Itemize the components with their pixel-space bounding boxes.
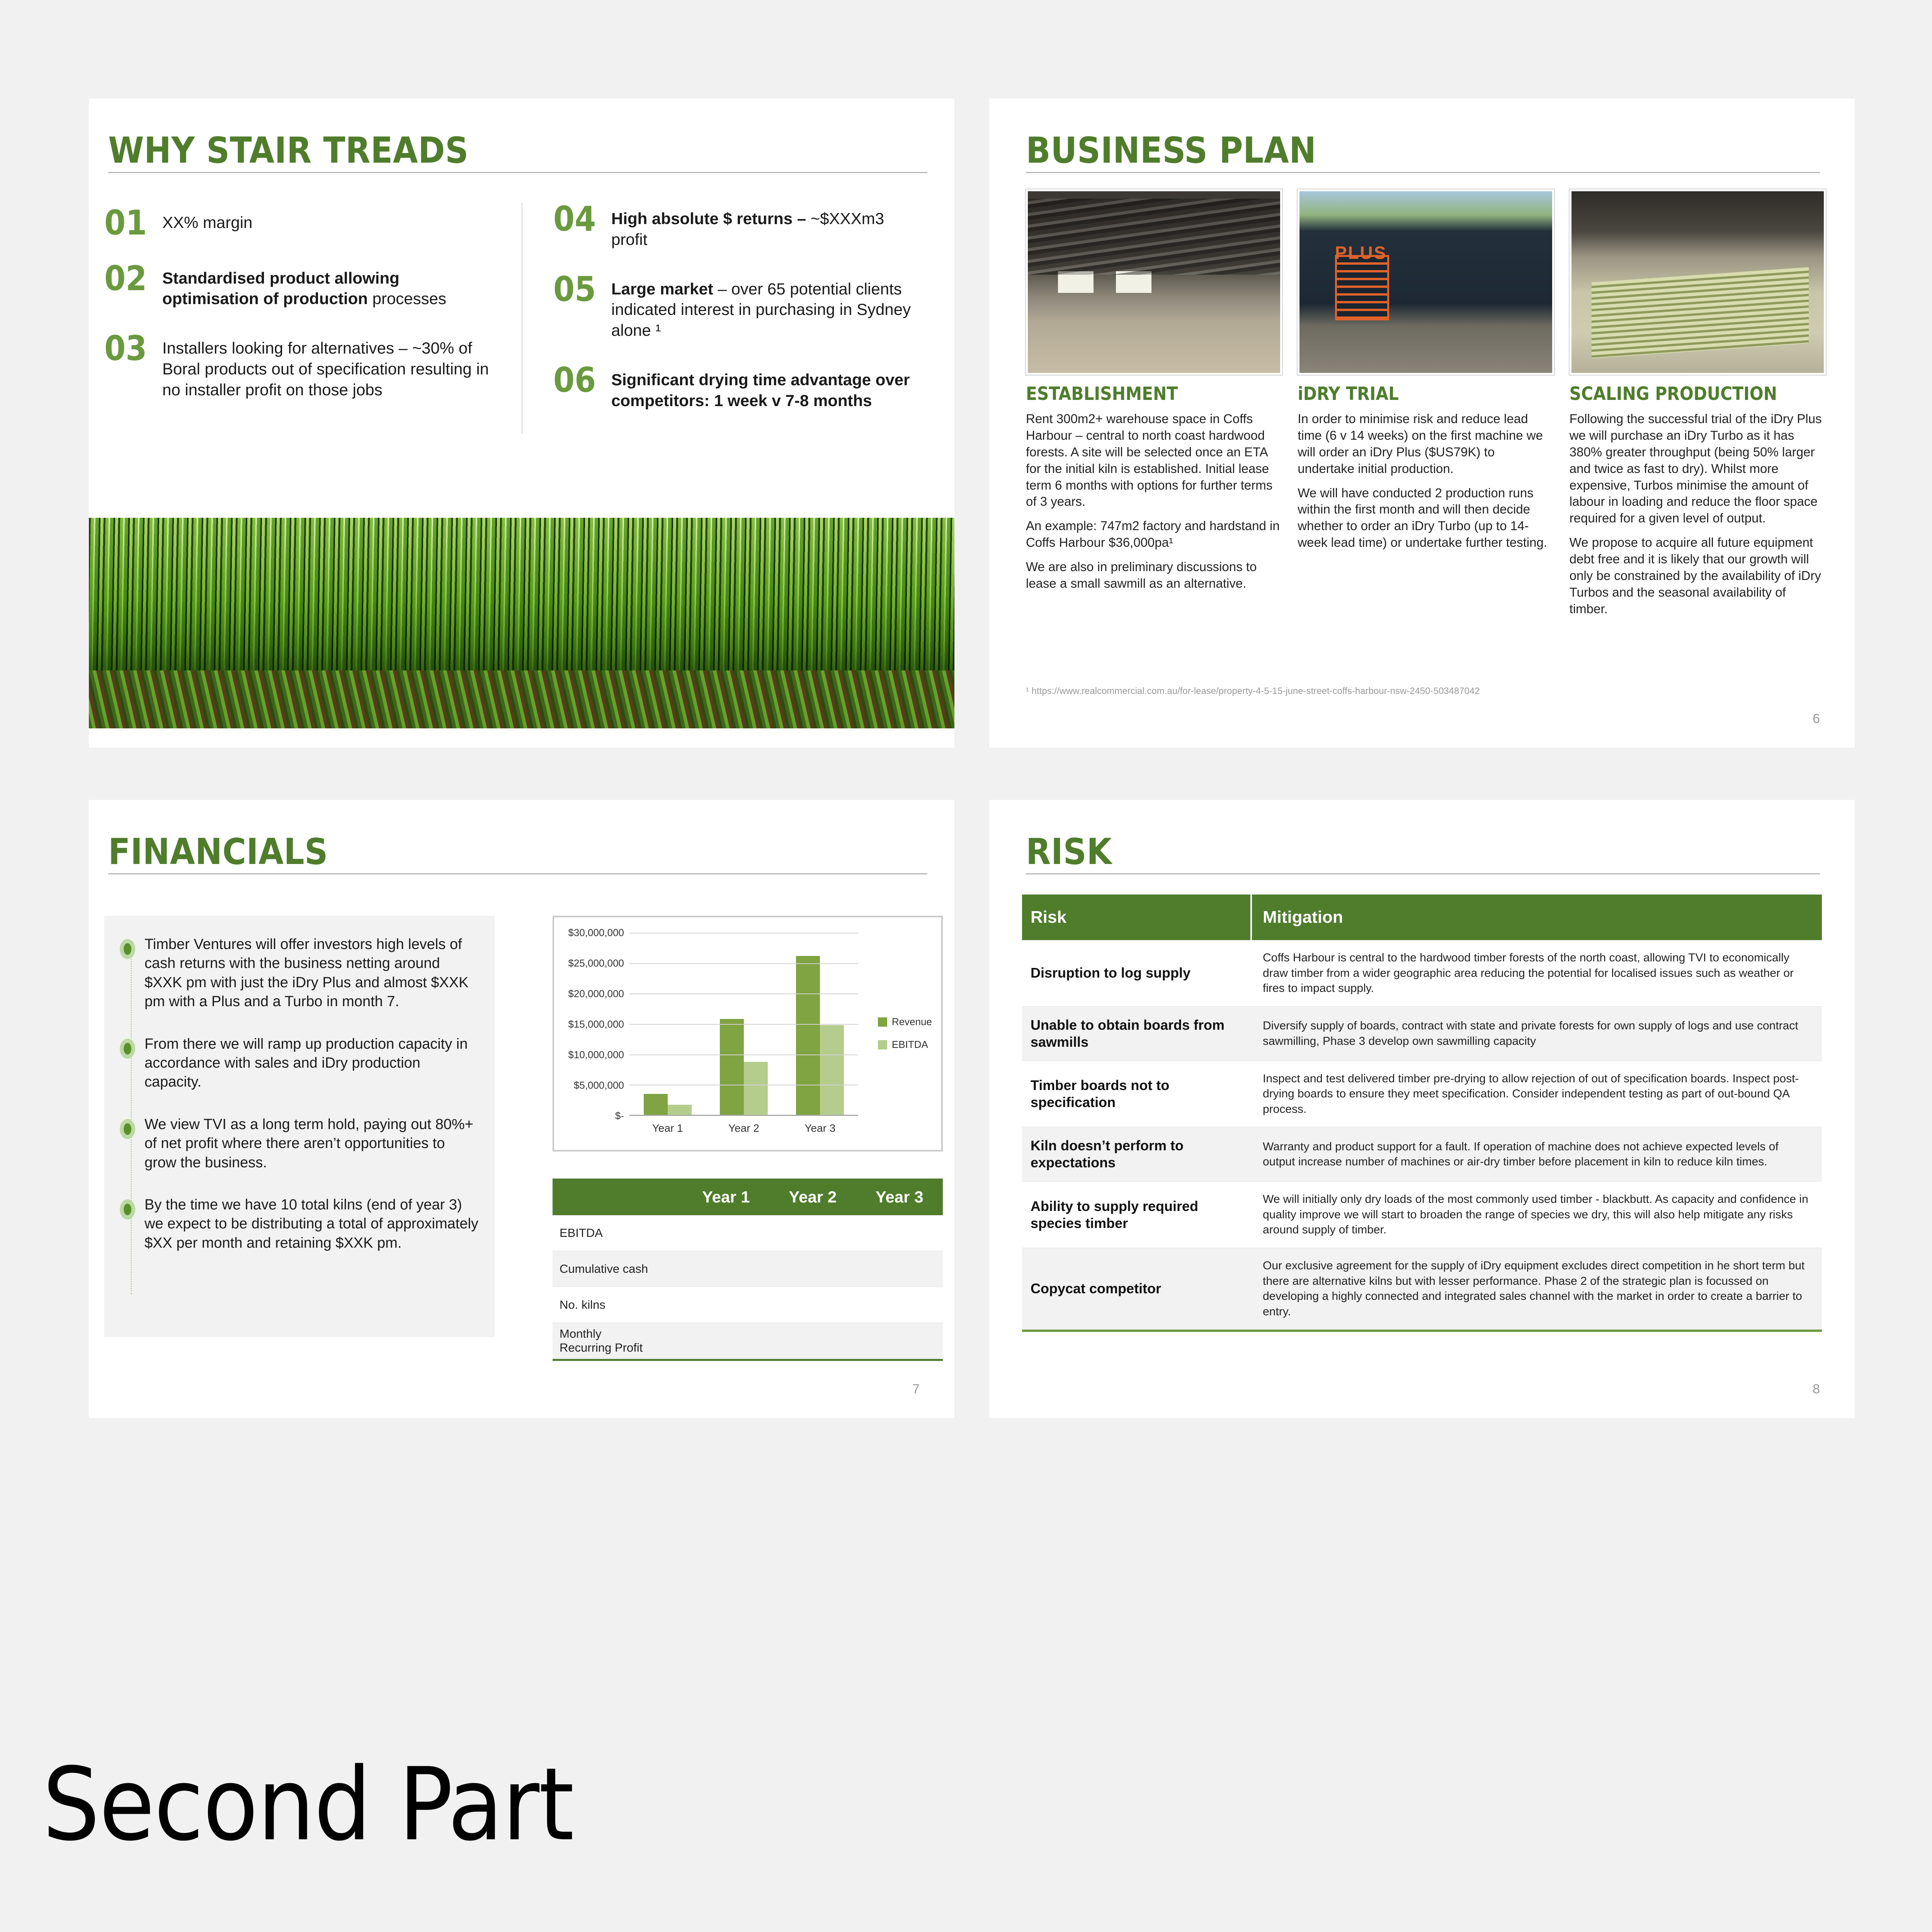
table-row: Kiln doesn’t perform to expectations War…: [1022, 1127, 1822, 1182]
item-text-body: processes: [368, 289, 446, 308]
chart-gridline: $15,000,000: [629, 1024, 858, 1025]
item-text: Installers looking for alternatives – ~3…: [162, 332, 498, 400]
bullet-text: Timber Ventures will offer investors hig…: [145, 935, 479, 1012]
chart-legend-item: Revenue: [878, 1016, 932, 1028]
table-row: Copycat competitor Our exclusive agreeme…: [1022, 1248, 1822, 1330]
section-caption: Second Part: [43, 1747, 573, 1863]
column-heading: ESTABLISHMENT: [1026, 383, 1282, 405]
list-item: From there we will ramp up production ca…: [120, 1035, 479, 1092]
financials-table: Year 1 Year 2 Year 3 EBITDA Cumulative c…: [553, 1179, 943, 1361]
chart-bar: [744, 1062, 768, 1115]
table-header-cell-risk: Risk: [1022, 895, 1252, 940]
table-header-cell: Year 1: [683, 1188, 769, 1206]
table-header-cell: Year 2: [769, 1188, 856, 1206]
item-number: 02: [104, 262, 162, 310]
bullet-text: By the time we have 10 total kilns (end …: [145, 1196, 479, 1253]
bullet-marker: [120, 1115, 145, 1172]
forest-floor-detail: [89, 670, 954, 728]
row-label: Monthly Recurring Profit: [553, 1327, 687, 1354]
column-paragraph: In order to minimise risk and reduce lea…: [1298, 411, 1554, 477]
title-divider: [1026, 873, 1820, 874]
risk-label: Kiln doesn’t perform to expectations: [1022, 1127, 1252, 1181]
column-paragraph: An example: 747m2 factory and hardstand …: [1026, 518, 1282, 551]
list-item: 05 Large market – over 65 potential clie…: [553, 273, 916, 341]
table-header-row: Year 1 Year 2 Year 3: [553, 1179, 943, 1215]
table-row: EBITDA: [553, 1215, 943, 1251]
row-label: EBITDA: [553, 1226, 687, 1240]
timber-racks-photo: [1570, 189, 1826, 375]
chart-legend: RevenueEBITDA: [878, 1016, 932, 1061]
title-divider: [108, 172, 927, 173]
mitigation-text: Inspect and test delivered timber pre-dr…: [1252, 1061, 1822, 1127]
column-heading: iDRY TRIAL: [1298, 383, 1554, 405]
chart-gridline: $30,000,000: [629, 933, 858, 934]
page-number: 6: [1813, 711, 1820, 726]
table-row: Timber boards not to specification Inspe…: [1022, 1061, 1822, 1128]
page-title: BUSINESS PLAN: [1026, 129, 1316, 171]
table-baseline: [553, 1359, 943, 1361]
list-item: 03 Installers looking for alternatives –…: [104, 332, 498, 400]
item-text-body: Installers looking for alternatives – ~3…: [162, 339, 489, 399]
list-item: 04 High absolute $ returns – ~$XXXm3 pro…: [553, 203, 916, 250]
column-paragraph: Following the successful trial of the iD…: [1570, 411, 1826, 527]
mitigation-text: Diversify supply of boards, contract wit…: [1252, 1008, 1822, 1059]
chart-bar: [644, 1094, 668, 1115]
chart-legend-swatch: [878, 1017, 887, 1027]
chart-legend-label: Revenue: [892, 1016, 932, 1028]
slide-financials: FINANCIALS Timber Ventures will offer in…: [89, 800, 954, 1418]
item-number: 06: [553, 364, 611, 411]
column-paragraph: We propose to acquire all future equipme…: [1570, 534, 1826, 617]
bullet-text: From there we will ramp up production ca…: [145, 1035, 479, 1092]
row-label: Cumulative cash: [553, 1262, 687, 1276]
page-number: 8: [1813, 1382, 1820, 1397]
business-plan-column-scaling-production: SCALING PRODUCTION Following the success…: [1570, 189, 1826, 625]
chart-x-axis: [629, 1115, 858, 1116]
risk-label: Disruption to log supply: [1022, 954, 1252, 992]
table-header-cell: Year 3: [856, 1188, 943, 1206]
chart-y-tick-label: $15,000,000: [568, 1019, 624, 1031]
item-text-lead: Significant drying time advantage over c…: [611, 371, 910, 410]
chart-y-tick-label: $-: [615, 1110, 624, 1122]
chart-x-tick-label: Year 1: [629, 1122, 706, 1134]
chart-y-tick-label: $25,000,000: [568, 957, 624, 969]
financials-bullets-panel: Timber Ventures will offer investors hig…: [104, 916, 495, 1337]
table-row: Ability to supply required species timbe…: [1022, 1182, 1822, 1248]
risk-label: Unable to obtain boards from sawmills: [1022, 1007, 1252, 1061]
page-title: WHY STAIR TREADS: [108, 129, 469, 171]
bullet-marker: [120, 1196, 145, 1253]
bullet-marker: [120, 1035, 145, 1092]
mitigation-text: Coffs Harbour is central to the hardwood…: [1252, 940, 1822, 1006]
column-paragraph: We will have conducted 2 production runs…: [1298, 485, 1554, 551]
chart-gridline: $5,000,000: [629, 1085, 858, 1085]
forest-photo: [89, 518, 954, 728]
slide-risk: RISK Risk Mitigation Disruption to log s…: [989, 800, 1855, 1418]
row-label: No. kilns: [553, 1298, 687, 1312]
list-item: By the time we have 10 total kilns (end …: [120, 1196, 479, 1253]
list-item: 02 Standardised product allowing optimis…: [104, 262, 498, 310]
item-text: XX% margin: [162, 207, 252, 239]
list-item: 01 XX% margin: [104, 207, 498, 239]
chart-y-tick-label: $20,000,000: [568, 988, 624, 1000]
column-paragraph: We are also in preliminary discussions t…: [1026, 559, 1282, 592]
table-header-cell-mitigation: Mitigation: [1252, 908, 1822, 927]
numbered-points-column-right: 04 High absolute $ returns – ~$XXXm3 pro…: [522, 203, 939, 434]
chart-gridline: $10,000,000: [629, 1054, 858, 1055]
slide-why-stair-treads: WHY STAIR TREADS 01 XX% margin 02 Standa…: [89, 99, 954, 748]
column-paragraph: Rent 300m2+ warehouse space in Coffs Har…: [1026, 411, 1282, 510]
title-divider: [108, 873, 927, 874]
numbered-points-column-left: 01 XX% margin 02 Standardised product al…: [104, 203, 522, 434]
item-number: 03: [104, 332, 162, 400]
item-text: Large market – over 65 potential clients…: [611, 273, 916, 341]
chart-bar: [720, 1019, 744, 1115]
table-row: Disruption to log supply Coffs Harbour i…: [1022, 940, 1822, 1007]
title-divider: [1026, 172, 1820, 173]
chart-x-tick-label: Year 3: [782, 1122, 858, 1134]
chart-y-tick-label: $10,000,000: [568, 1049, 624, 1061]
table-baseline: [1022, 1330, 1822, 1332]
table-header-row: Risk Mitigation: [1022, 895, 1822, 940]
mitigation-text: Our exclusive agreement for the supply o…: [1252, 1248, 1822, 1329]
chart-legend-label: EBITDA: [892, 1039, 928, 1051]
table-row: Cumulative cash: [553, 1251, 943, 1287]
item-number: 05: [553, 273, 611, 341]
risk-table: Risk Mitigation Disruption to log supply…: [1022, 895, 1822, 1332]
table-row: Unable to obtain boards from sawmills Di…: [1022, 1007, 1822, 1061]
chart-gridline: $20,000,000: [629, 993, 858, 994]
bullet-marker: [120, 935, 145, 1012]
item-text: High absolute $ returns – ~$XXXm3 profit: [611, 203, 916, 250]
chart-bar: [668, 1105, 692, 1115]
mitigation-text: Warranty and product support for a fault…: [1252, 1129, 1822, 1180]
risk-label: Timber boards not to specification: [1022, 1067, 1252, 1121]
list-item: Timber Ventures will offer investors hig…: [120, 935, 479, 1012]
mitigation-text: We will initially only dry loads of the …: [1252, 1182, 1822, 1248]
item-number: 04: [553, 203, 611, 250]
slide-business-plan: BUSINESS PLAN ESTABLISHMENT Rent 300m2+ …: [989, 99, 1855, 748]
column-heading: SCALING PRODUCTION: [1570, 383, 1826, 405]
table-row: Monthly Recurring Profit: [553, 1323, 943, 1359]
chart-gridline: $25,000,000: [629, 963, 858, 964]
item-text-lead: High absolute $ returns –: [611, 209, 806, 228]
business-plan-column-establishment: ESTABLISHMENT Rent 300m2+ warehouse spac…: [1026, 189, 1282, 625]
financials-bullet-list: Timber Ventures will offer investors hig…: [104, 916, 495, 1253]
item-text: Significant drying time advantage over c…: [611, 364, 916, 411]
page-number: 7: [912, 1382, 920, 1397]
chart-legend-swatch: [878, 1040, 887, 1049]
chart-x-tick-label: Year 2: [706, 1122, 782, 1134]
item-text: Standardised product allowing optimisati…: [162, 262, 498, 310]
list-item: We view TVI as a long term hold, paying …: [120, 1115, 479, 1172]
chart-bar: [820, 1025, 844, 1115]
risk-label: Copycat competitor: [1022, 1270, 1252, 1307]
page-title: RISK: [1026, 831, 1112, 872]
numbered-points-grid: 01 XX% margin 02 Standardised product al…: [104, 203, 939, 434]
chart-x-tick-labels: Year 1Year 2Year 3: [629, 1122, 858, 1134]
chart-y-tick-label: $30,000,000: [568, 927, 624, 939]
list-item: 06 Significant drying time advantage ove…: [553, 364, 916, 411]
item-text-lead: Standardised product allowing optimisati…: [162, 269, 400, 308]
chart-plot-area: $-$5,000,000$10,000,000$15,000,000$20,00…: [629, 933, 858, 1115]
business-plan-columns: ESTABLISHMENT Rent 300m2+ warehouse spac…: [1026, 189, 1826, 625]
chart-bar: [796, 956, 820, 1115]
table-row: No. kilns: [553, 1287, 943, 1323]
idry-kiln-photo: [1298, 189, 1554, 375]
item-text-lead: Large market: [611, 280, 713, 298]
item-number: 01: [104, 207, 162, 239]
chart-y-tick-label: $5,000,000: [574, 1079, 624, 1091]
bullet-text: We view TVI as a long term hold, paying …: [145, 1115, 479, 1172]
page-title: FINANCIALS: [108, 831, 328, 872]
chart-legend-item: EBITDA: [878, 1039, 932, 1051]
item-text-body: XX% margin: [162, 213, 252, 231]
business-plan-column-idry-trial: iDRY TRIAL In order to minimise risk and…: [1298, 189, 1554, 625]
revenue-ebitda-bar-chart: $-$5,000,000$10,000,000$15,000,000$20,00…: [553, 916, 943, 1151]
risk-label: Ability to supply required species timbe…: [1022, 1188, 1252, 1242]
footnote: ¹ https://www.realcommercial.com.au/for-…: [1026, 686, 1480, 697]
warehouse-interior-photo: [1026, 189, 1282, 375]
